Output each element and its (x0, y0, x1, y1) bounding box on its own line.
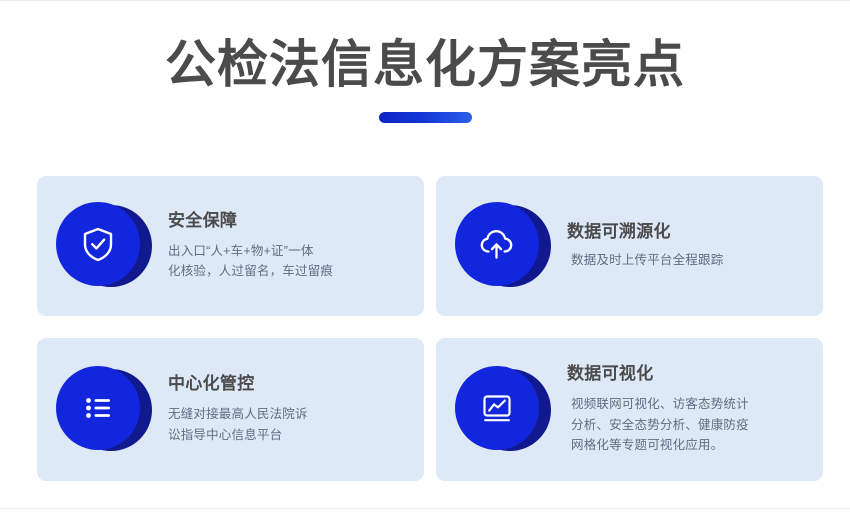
card-description: 数据及时上传平台全程跟踪 (567, 250, 809, 270)
card-text-block: 数据可溯源化 数据及时上传平台全程跟踪 (567, 222, 809, 271)
card-title: 中心化管控 (168, 374, 410, 394)
card-title: 数据可视化 (567, 364, 809, 384)
icon-circle (455, 202, 539, 286)
icon-medallion (56, 363, 150, 457)
chart-monitor-icon (476, 387, 518, 429)
icon-circle (455, 366, 539, 450)
icon-circle (56, 202, 140, 286)
card-description: 出入口“人+车+物+证”一体 化核验，人过留名，车过留痕 (168, 241, 410, 282)
feature-card-data-traceability[interactable]: 数据可溯源化 数据及时上传平台全程跟踪 (436, 176, 823, 316)
feature-card-security[interactable]: 安全保障 出入口“人+车+物+证”一体 化核验，人过留名，车过留痕 (37, 176, 424, 316)
icon-medallion (455, 199, 549, 293)
feature-card-grid: 安全保障 出入口“人+车+物+证”一体 化核验，人过留名，车过留痕 数据可溯源化… (37, 176, 823, 481)
title-underline-bar (379, 112, 472, 123)
icon-medallion (56, 199, 150, 293)
card-title: 数据可溯源化 (567, 222, 809, 242)
page-title: 公检法信息化方案亮点 (0, 36, 850, 95)
icon-circle (56, 366, 140, 450)
card-description: 无缝对接最高人民法院诉 讼指导中心信息平台 (168, 404, 410, 445)
card-text-block: 中心化管控 无缝对接最高人民法院诉 讼指导中心信息平台 (168, 374, 410, 445)
cloud-upload-icon (476, 223, 518, 265)
card-text-block: 数据可视化 视频联网可视化、访客态势统计 分析、安全态势分析、健康防疫 网格化等… (567, 364, 809, 455)
card-description: 视频联网可视化、访客态势统计 分析、安全态势分析、健康防疫 网格化等专题可视化应… (567, 394, 809, 455)
feature-card-centralized-control[interactable]: 中心化管控 无缝对接最高人民法院诉 讼指导中心信息平台 (37, 338, 424, 481)
header: 公检法信息化方案亮点 (0, 36, 850, 123)
bullet-list-icon (78, 388, 118, 428)
card-text-block: 安全保障 出入口“人+车+物+证”一体 化核验，人过留名，车过留痕 (168, 211, 410, 282)
slide-canvas: 公检法信息化方案亮点 安全保障 出入口“人+车+物+证”一体 化核验，人过留名，… (0, 0, 850, 516)
shield-check-icon (78, 224, 118, 264)
feature-card-data-visualization[interactable]: 数据可视化 视频联网可视化、访客态势统计 分析、安全态势分析、健康防疫 网格化等… (436, 338, 823, 481)
top-divider (0, 0, 850, 1)
bottom-divider (0, 508, 850, 509)
card-title: 安全保障 (168, 211, 410, 231)
icon-medallion (455, 363, 549, 457)
